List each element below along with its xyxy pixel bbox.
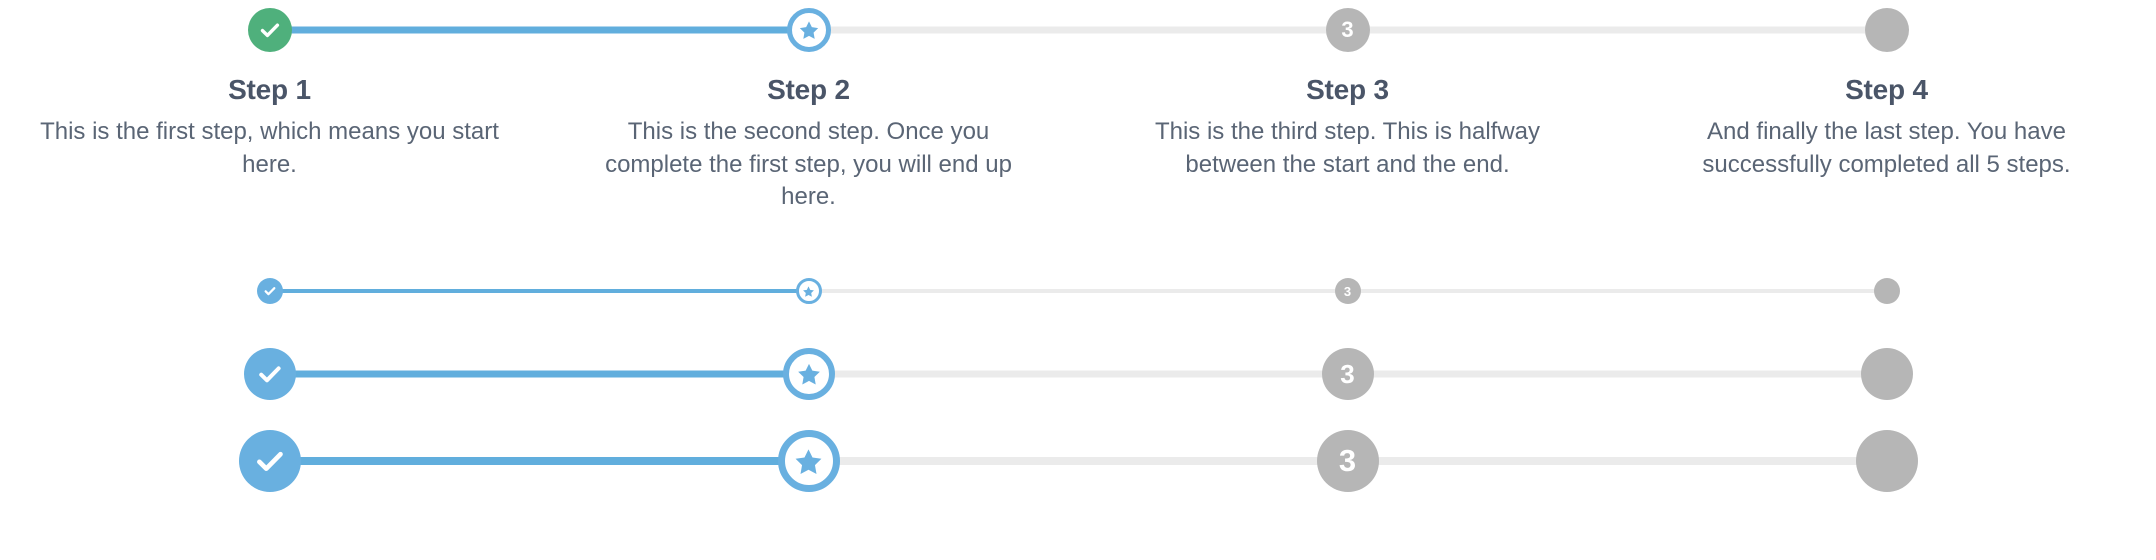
- connector-left: [1078, 27, 1348, 34]
- step-indicator-pending[interactable]: [1874, 278, 1900, 304]
- step-indicator-number[interactable]: 3: [1335, 278, 1361, 304]
- step-description: And finally the last step. You have succ…: [1657, 116, 2117, 181]
- connector-right: [270, 289, 540, 293]
- connector-left: [0, 457, 270, 465]
- connector-left: [539, 27, 809, 34]
- connector-right: [270, 457, 540, 465]
- step-node-row: [1617, 348, 2156, 400]
- step-item-3[interactable]: 3: [1078, 278, 1617, 304]
- step-label: Step 3: [1306, 74, 1389, 106]
- step-indicator-pending[interactable]: [1856, 430, 1918, 492]
- connector-left: [1078, 457, 1348, 465]
- connector-right: [809, 371, 1079, 378]
- step-indicator-number[interactable]: 3: [1326, 8, 1370, 52]
- step-label: Step 4: [1845, 74, 1928, 106]
- connector-left: [0, 371, 270, 378]
- step-node-row: 3: [1078, 430, 1617, 492]
- connector-right: [1348, 27, 1618, 34]
- step-node-row: [0, 8, 539, 52]
- step-indicator-complete[interactable]: [257, 278, 283, 304]
- step-item-4[interactable]: [1617, 430, 2156, 492]
- step-node-row: [539, 348, 1078, 400]
- connector-left: [1617, 27, 1887, 34]
- stepper-showcase: Step 1 This is the first step, which mea…: [0, 0, 2156, 560]
- step-indicator-complete[interactable]: [239, 430, 301, 492]
- step-indicator-number[interactable]: 3: [1322, 348, 1374, 400]
- connector-right: [1887, 371, 2156, 378]
- medium-stepper: 3: [0, 348, 2156, 400]
- extra-large-stepper: 3: [0, 430, 2156, 492]
- step-node-row: 3: [1078, 278, 1617, 304]
- step-description: This is the third step. This is halfway …: [1118, 116, 1578, 181]
- connector-right: [270, 27, 540, 34]
- connector-right: [1887, 27, 2156, 34]
- step-item-4[interactable]: Step 4 And finally the last step. You ha…: [1617, 8, 2156, 181]
- step-node-row: [0, 278, 539, 304]
- step-item-1[interactable]: [0, 430, 539, 492]
- step-node-row: 3: [1078, 8, 1617, 52]
- connector-right: [1887, 289, 2156, 293]
- step-indicator-active[interactable]: [778, 430, 840, 492]
- connector-left: [539, 371, 809, 378]
- step-item-3[interactable]: 3 Step 3 This is the third step. This is…: [1078, 8, 1617, 181]
- step-description: This is the first step, which means you …: [40, 116, 500, 181]
- step-indicator-complete[interactable]: [248, 8, 292, 52]
- check-icon: [253, 444, 287, 478]
- connector-right: [1887, 457, 2156, 465]
- connector-right: [1348, 289, 1618, 293]
- step-node-row: [1617, 278, 2156, 304]
- step-indicator-active[interactable]: [783, 348, 835, 400]
- connector-right: [809, 457, 1079, 465]
- step-item-2[interactable]: [539, 278, 1078, 304]
- step-item-1[interactable]: Step 1 This is the first step, which mea…: [0, 8, 539, 181]
- connector-left: [1617, 457, 1887, 465]
- extra-small-stepper: 3: [0, 278, 2156, 304]
- connector-left: [539, 289, 809, 293]
- step-item-2[interactable]: [539, 348, 1078, 400]
- step-node-row: [539, 8, 1078, 52]
- connector-left: [1617, 371, 1887, 378]
- step-node-row: [0, 430, 539, 492]
- step-item-1[interactable]: [0, 278, 539, 304]
- connector-right: [1348, 371, 1618, 378]
- step-item-2[interactable]: Step 2 This is the second step. Once you…: [539, 8, 1078, 213]
- labeled-stepper: Step 1 This is the first step, which mea…: [0, 8, 2156, 213]
- step-label: Step 1: [228, 74, 311, 106]
- step-node-row: [539, 430, 1078, 492]
- connector-left: [1078, 289, 1348, 293]
- connector-right: [1348, 457, 1618, 465]
- connector-left: [0, 27, 270, 34]
- step-node-row: [1617, 8, 2156, 52]
- connector-left: [539, 457, 809, 465]
- connector-right: [809, 27, 1079, 34]
- step-node-row: [0, 348, 539, 400]
- step-indicator-pending[interactable]: [1861, 348, 1913, 400]
- connector-left: [1617, 289, 1887, 293]
- step-indicator-active[interactable]: [796, 278, 822, 304]
- step-item-2[interactable]: [539, 430, 1078, 492]
- step-indicator-pending[interactable]: [1865, 8, 1909, 52]
- step-indicator-number[interactable]: 3: [1317, 430, 1379, 492]
- step-item-3[interactable]: 3: [1078, 430, 1617, 492]
- step-item-4[interactable]: [1617, 278, 2156, 304]
- star-icon: [798, 19, 820, 41]
- connector-right: [270, 371, 540, 378]
- step-indicator-active[interactable]: [787, 8, 831, 52]
- star-icon: [796, 361, 822, 387]
- star-icon: [793, 446, 824, 477]
- step-node-row: [539, 278, 1078, 304]
- step-item-4[interactable]: [1617, 348, 2156, 400]
- step-item-3[interactable]: 3: [1078, 348, 1617, 400]
- step-node-row: 3: [1078, 348, 1617, 400]
- step-label: Step 2: [767, 74, 850, 106]
- step-item-1[interactable]: [0, 348, 539, 400]
- connector-left: [0, 289, 270, 293]
- star-icon: [802, 285, 815, 298]
- step-indicator-complete[interactable]: [244, 348, 296, 400]
- step-node-row: [1617, 430, 2156, 492]
- check-icon: [263, 284, 277, 298]
- connector-left: [1078, 371, 1348, 378]
- step-description: This is the second step. Once you comple…: [579, 116, 1039, 213]
- check-icon: [256, 360, 284, 388]
- connector-right: [809, 289, 1079, 293]
- check-icon: [258, 18, 282, 42]
